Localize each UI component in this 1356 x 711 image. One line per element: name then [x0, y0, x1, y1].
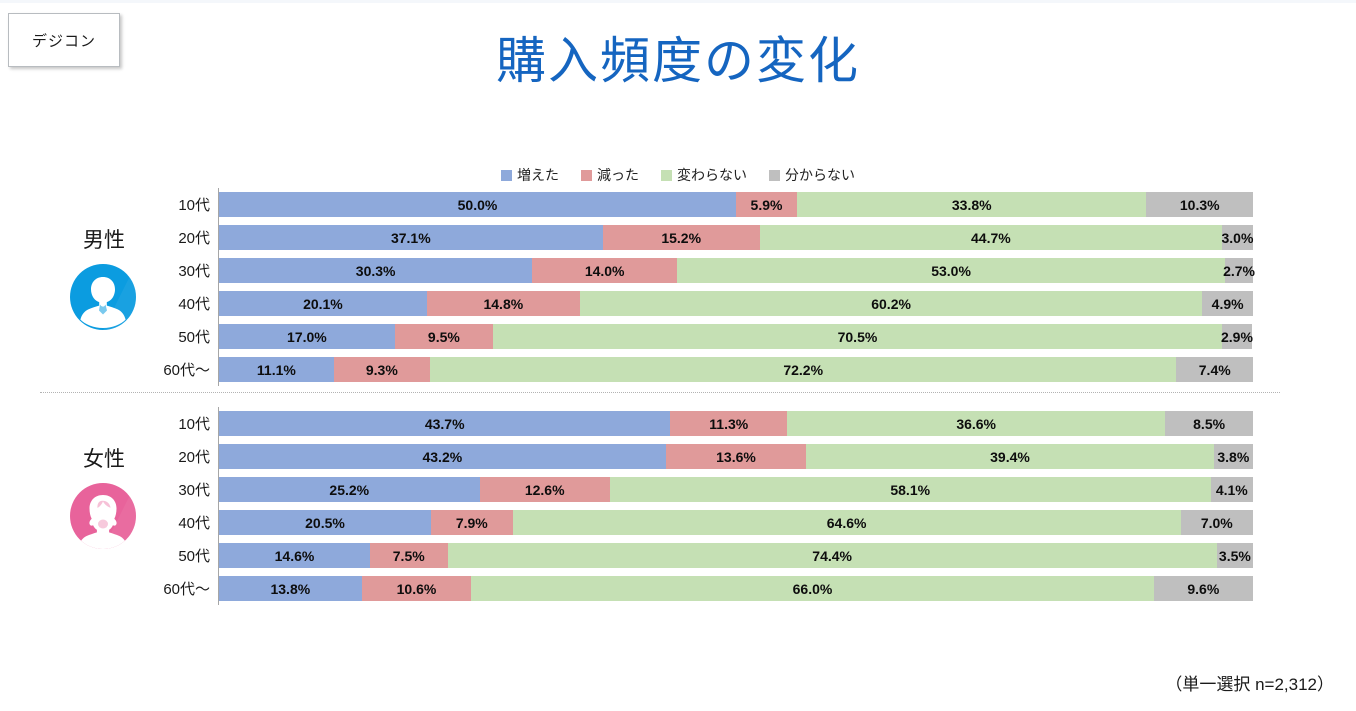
bar-segment-decreased[interactable]: 7.5%: [370, 543, 448, 568]
bar-segment-value: 66.0%: [793, 581, 833, 597]
age-group-label: 50代: [110, 326, 210, 347]
page-title: 購入頻度の変化: [0, 36, 1356, 86]
stacked-bar: 30.3%14.0%53.0%2.7%: [219, 258, 1253, 283]
stacked-bar-chart: 男性10代50.0%5.9%33.8%10.3%20代37.1%15.2%44.…: [0, 188, 1356, 605]
stacked-bar: 17.0%9.5%70.5%2.9%: [219, 324, 1253, 349]
stacked-bar: 43.2%13.6%39.4%3.8%: [219, 444, 1253, 469]
bar-segment-value: 74.4%: [812, 548, 852, 564]
bar-rows: 10代43.7%11.3%36.6%8.5%20代43.2%13.6%39.4%…: [0, 407, 1356, 605]
stacked-bar: 13.8%10.6%66.0%9.6%: [219, 576, 1253, 601]
bar-segment-decreased[interactable]: 10.6%: [362, 576, 472, 601]
footer-note: （単一選択 n=2,312）: [1165, 670, 1334, 695]
bar-segment-value: 43.2%: [422, 449, 462, 465]
stacked-bar: 20.5%7.9%64.6%7.0%: [219, 510, 1253, 535]
bar-segment-value: 60.2%: [871, 296, 911, 312]
bar-segment-unchanged[interactable]: 53.0%: [677, 258, 1225, 283]
bar-segment-value: 30.3%: [356, 263, 396, 279]
bar-row[interactable]: 60代〜11.1%9.3%72.2%7.4%: [0, 353, 1356, 386]
stacked-bar: 50.0%5.9%33.8%10.3%: [219, 192, 1253, 217]
legend-label: 増えた: [517, 165, 559, 185]
age-group-label: 20代: [110, 446, 210, 467]
legend-swatch-icon: [501, 170, 512, 181]
bar-segment-decreased[interactable]: 11.3%: [670, 411, 787, 436]
bar-segment-value: 14.0%: [585, 263, 625, 279]
bar-segment-value: 25.2%: [329, 482, 369, 498]
stacked-bar: 43.7%11.3%36.6%8.5%: [219, 411, 1253, 436]
bar-segment-value: 9.3%: [366, 362, 398, 378]
bar-segment-unknown[interactable]: 8.5%: [1165, 411, 1253, 436]
group-divider: [40, 392, 1280, 393]
bar-segment-value: 10.3%: [1180, 197, 1220, 213]
bar-segment-value: 3.8%: [1217, 449, 1249, 465]
bar-segment-increased[interactable]: 37.1%: [219, 225, 603, 250]
bar-segment-unknown[interactable]: 9.6%: [1154, 576, 1253, 601]
bar-segment-unchanged[interactable]: 66.0%: [471, 576, 1153, 601]
bar-segment-increased[interactable]: 20.5%: [219, 510, 431, 535]
bar-segment-value: 4.1%: [1216, 482, 1248, 498]
bar-segment-value: 10.6%: [397, 581, 437, 597]
bar-segment-decreased[interactable]: 7.9%: [431, 510, 513, 535]
bar-segment-value: 9.5%: [428, 329, 460, 345]
bar-segment-value: 20.5%: [305, 515, 345, 531]
bar-row[interactable]: 20代37.1%15.2%44.7%3.0%: [0, 221, 1356, 254]
bar-segment-unknown[interactable]: 10.3%: [1146, 192, 1253, 217]
bar-segment-value: 11.1%: [257, 362, 296, 378]
bar-segment-unchanged[interactable]: 33.8%: [797, 192, 1146, 217]
bar-segment-decreased[interactable]: 9.5%: [395, 324, 493, 349]
bar-segment-value: 12.6%: [525, 482, 565, 498]
bar-segment-value: 8.5%: [1193, 416, 1225, 432]
age-group-label: 40代: [110, 293, 210, 314]
bar-segment-unknown[interactable]: 2.7%: [1225, 258, 1253, 283]
bar-segment-value: 70.5%: [838, 329, 878, 345]
bar-segment-unknown[interactable]: 7.4%: [1176, 357, 1253, 382]
bar-segment-value: 5.9%: [751, 197, 783, 213]
top-strip: [0, 0, 1356, 3]
bar-segment-unchanged[interactable]: 72.2%: [430, 357, 1177, 382]
age-group-label: 60代〜: [110, 359, 210, 380]
bar-segment-value: 14.6%: [275, 548, 315, 564]
bar-row[interactable]: 40代20.5%7.9%64.6%7.0%: [0, 506, 1356, 539]
bar-row[interactable]: 30代30.3%14.0%53.0%2.7%: [0, 254, 1356, 287]
bar-segment-value: 36.6%: [956, 416, 996, 432]
bar-segment-value: 3.0%: [1222, 230, 1254, 246]
bar-rows: 10代50.0%5.9%33.8%10.3%20代37.1%15.2%44.7%…: [0, 188, 1356, 386]
bar-segment-value: 7.9%: [456, 515, 488, 531]
bar-segment-increased[interactable]: 17.0%: [219, 324, 395, 349]
bar-segment-unchanged[interactable]: 74.4%: [448, 543, 1217, 568]
bar-segment-value: 13.6%: [716, 449, 756, 465]
bar-segment-value: 2.9%: [1221, 329, 1253, 345]
bar-segment-value: 39.4%: [990, 449, 1030, 465]
legend-label: 分からない: [785, 165, 855, 185]
bar-segment-increased[interactable]: 43.2%: [219, 444, 666, 469]
legend-swatch-icon: [769, 170, 780, 181]
bar-segment-increased[interactable]: 11.1%: [219, 357, 334, 382]
age-group-label: 40代: [110, 512, 210, 533]
bar-segment-unchanged[interactable]: 58.1%: [610, 477, 1211, 502]
bar-segment-unknown[interactable]: 2.9%: [1222, 324, 1252, 349]
bar-segment-increased[interactable]: 43.7%: [219, 411, 670, 436]
legend-item[interactable]: 分からない: [769, 165, 855, 185]
bar-segment-value: 11.3%: [709, 416, 748, 432]
bar-segment-increased[interactable]: 25.2%: [219, 477, 480, 502]
bar-segment-decreased[interactable]: 14.8%: [427, 291, 580, 316]
slide-canvas: デジコン 購入頻度の変化 増えた減った変わらない分からない 男性10代50.0%…: [0, 0, 1356, 711]
bar-segment-value: 14.8%: [483, 296, 523, 312]
stacked-bar: 14.6%7.5%74.4%3.5%: [219, 543, 1253, 568]
bar-segment-value: 44.7%: [971, 230, 1011, 246]
bar-segment-unchanged[interactable]: 36.6%: [787, 411, 1165, 436]
bar-segment-value: 4.9%: [1212, 296, 1244, 312]
bar-segment-decreased[interactable]: 12.6%: [480, 477, 610, 502]
bar-row[interactable]: 60代〜13.8%10.6%66.0%9.6%: [0, 572, 1356, 605]
legend-item[interactable]: 変わらない: [661, 165, 747, 185]
bar-segment-unknown[interactable]: 3.5%: [1217, 543, 1253, 568]
age-group-label: 60代〜: [110, 578, 210, 599]
bar-row[interactable]: 10代50.0%5.9%33.8%10.3%: [0, 188, 1356, 221]
age-group-label: 30代: [110, 479, 210, 500]
gender-group-female: 女性10代43.7%11.3%36.6%8.5%20代43.2%13.6%39.…: [0, 407, 1356, 605]
age-group-label: 50代: [110, 545, 210, 566]
stacked-bar: 37.1%15.2%44.7%3.0%: [219, 225, 1253, 250]
stacked-bar: 20.1%14.8%60.2%4.9%: [219, 291, 1253, 316]
bar-segment-unchanged[interactable]: 44.7%: [760, 225, 1222, 250]
bar-segment-decreased[interactable]: 14.0%: [532, 258, 677, 283]
bar-segment-value: 33.8%: [952, 197, 992, 213]
legend-swatch-icon: [661, 170, 672, 181]
bar-row[interactable]: 50代17.0%9.5%70.5%2.9%: [0, 320, 1356, 353]
legend-swatch-icon: [581, 170, 592, 181]
bar-segment-unchanged[interactable]: 60.2%: [580, 291, 1202, 316]
bar-segment-value: 64.6%: [827, 515, 867, 531]
bar-segment-value: 20.1%: [303, 296, 343, 312]
bar-row[interactable]: 30代25.2%12.6%58.1%4.1%: [0, 473, 1356, 506]
bar-row[interactable]: 50代14.6%7.5%74.4%3.5%: [0, 539, 1356, 572]
legend-item[interactable]: 減った: [581, 165, 639, 185]
stacked-bar: 25.2%12.6%58.1%4.1%: [219, 477, 1253, 502]
bar-segment-decreased[interactable]: 13.6%: [666, 444, 807, 469]
bar-segment-increased[interactable]: 20.1%: [219, 291, 427, 316]
bar-segment-decreased[interactable]: 5.9%: [736, 192, 797, 217]
bar-segment-increased[interactable]: 14.6%: [219, 543, 370, 568]
bar-segment-unknown[interactable]: 3.0%: [1222, 225, 1253, 250]
bar-segment-value: 43.7%: [425, 416, 465, 432]
bar-segment-increased[interactable]: 13.8%: [219, 576, 362, 601]
bar-row[interactable]: 40代20.1%14.8%60.2%4.9%: [0, 287, 1356, 320]
bar-row[interactable]: 10代43.7%11.3%36.6%8.5%: [0, 407, 1356, 440]
bar-segment-unknown[interactable]: 4.1%: [1211, 477, 1253, 502]
bar-segment-value: 9.6%: [1187, 581, 1219, 597]
bar-segment-unchanged[interactable]: 70.5%: [493, 324, 1222, 349]
bar-segment-value: 17.0%: [287, 329, 327, 345]
bar-segment-value: 50.0%: [458, 197, 498, 213]
gender-group-male: 男性10代50.0%5.9%33.8%10.3%20代37.1%15.2%44.…: [0, 188, 1356, 386]
bar-segment-value: 2.7%: [1223, 263, 1255, 279]
legend-label: 変わらない: [677, 165, 747, 185]
bar-segment-value: 15.2%: [661, 230, 701, 246]
bar-segment-value: 3.5%: [1219, 548, 1251, 564]
stacked-bar: 11.1%9.3%72.2%7.4%: [219, 357, 1253, 382]
bar-segment-unknown[interactable]: 7.0%: [1181, 510, 1253, 535]
bar-row[interactable]: 20代43.2%13.6%39.4%3.8%: [0, 440, 1356, 473]
age-group-label: 20代: [110, 227, 210, 248]
bar-segment-value: 7.0%: [1201, 515, 1233, 531]
bar-segment-unknown[interactable]: 3.8%: [1214, 444, 1253, 469]
age-group-label: 10代: [110, 194, 210, 215]
bar-segment-unchanged[interactable]: 64.6%: [513, 510, 1181, 535]
legend-item[interactable]: 増えた: [501, 165, 559, 185]
bar-segment-decreased[interactable]: 9.3%: [334, 357, 430, 382]
bar-segment-value: 58.1%: [890, 482, 930, 498]
bar-segment-increased[interactable]: 50.0%: [219, 192, 736, 217]
bar-segment-decreased[interactable]: 15.2%: [603, 225, 760, 250]
bar-segment-value: 53.0%: [931, 263, 971, 279]
age-group-label: 30代: [110, 260, 210, 281]
bar-segment-value: 37.1%: [391, 230, 431, 246]
bar-segment-unknown[interactable]: 4.9%: [1202, 291, 1253, 316]
bar-segment-value: 72.2%: [783, 362, 823, 378]
age-group-label: 10代: [110, 413, 210, 434]
bar-segment-value: 7.5%: [393, 548, 425, 564]
bar-segment-increased[interactable]: 30.3%: [219, 258, 532, 283]
legend-label: 減った: [597, 165, 639, 185]
bar-segment-unchanged[interactable]: 39.4%: [806, 444, 1213, 469]
bar-segment-value: 13.8%: [270, 581, 310, 597]
chart-legend: 増えた減った変わらない分からない: [0, 165, 1356, 185]
bar-segment-value: 7.4%: [1199, 362, 1231, 378]
